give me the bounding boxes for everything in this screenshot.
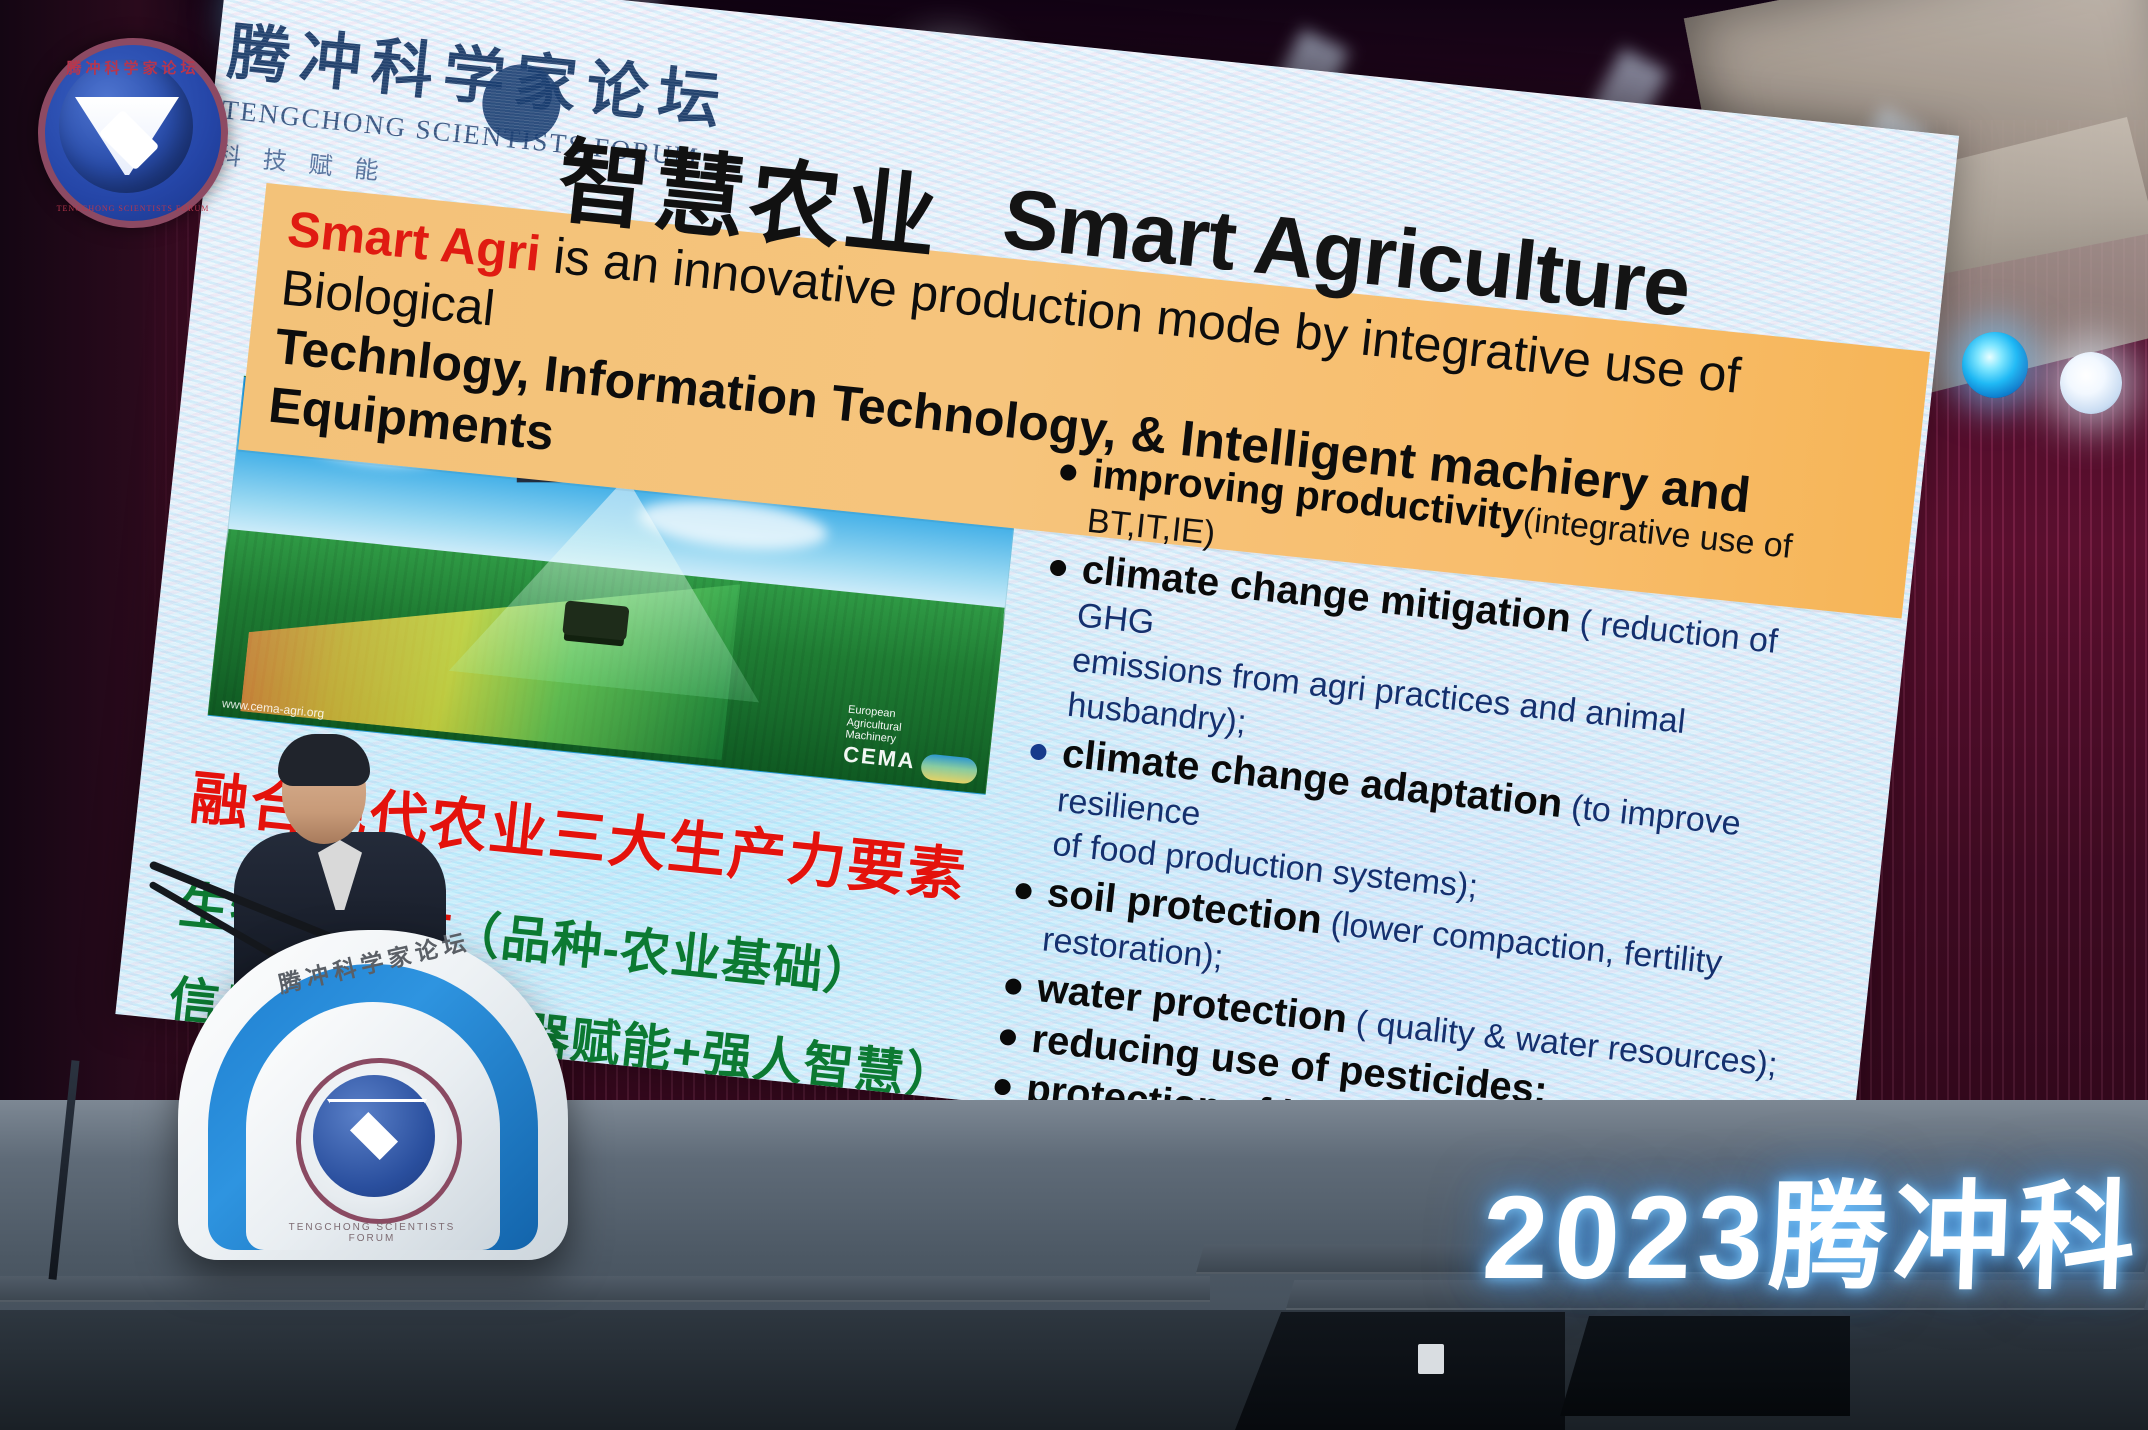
photo-tractor-icon (562, 601, 629, 641)
forum-logo-en-text: TENGCHONG SCIENTISTS FORUM (45, 204, 221, 213)
podium-forum-en-text: TENGCHONG SCIENTISTS FORUM (282, 1222, 462, 1244)
stage-scene: 腾冲科学家论坛 TENGCHONG SCIENTISTS FORUM 腾冲科学家… (0, 0, 2148, 1430)
stage-step (0, 1276, 1210, 1302)
cema-flag-icon (920, 753, 978, 785)
speaker-podium: 腾冲科学家论坛 TENGCHONG SCIENTISTS FORUM (178, 930, 568, 1260)
floor-led-sign-2023: 2023腾冲科 (1480, 1141, 2144, 1312)
speaker-hair (278, 734, 370, 786)
stage-light-blue (1962, 332, 2028, 398)
forum-logo-cn-text: 腾冲科学家论坛 (45, 57, 221, 78)
stage-monitor-speaker (1235, 1312, 1565, 1430)
stage-cable-box (1418, 1344, 1444, 1374)
bullet-note-1-line2: emissions from agri practices and animal… (1066, 641, 1688, 741)
podium-emblem (296, 1058, 462, 1224)
photo-cema-logo: European Agricultural Machinery CEMA (841, 704, 982, 785)
forum-logo: 腾冲科学家论坛 TENGCHONG SCIENTISTS FORUM (38, 38, 228, 228)
stage-light-white (2060, 352, 2122, 414)
benefits-bullet-list: improving productivity(integrative use o… (985, 449, 1857, 1190)
stage-monitor-speaker (1560, 1316, 1850, 1416)
